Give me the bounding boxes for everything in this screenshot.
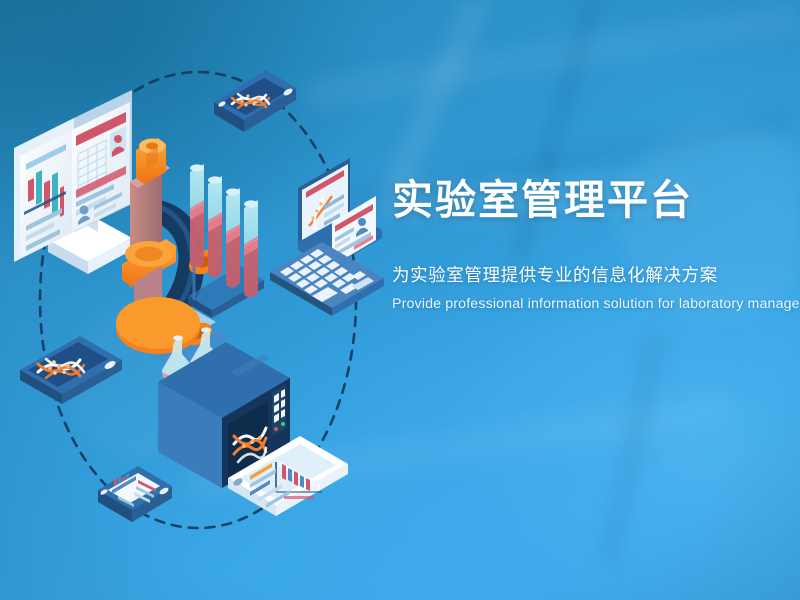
banner-copy: 实验室管理平台 为实验室管理提供专业的信息化解决方案 Provide profe… <box>392 176 800 312</box>
test-tube <box>226 188 240 288</box>
page-title: 实验室管理平台 <box>392 176 800 224</box>
desktop-monitor-device <box>14 90 132 274</box>
test-tube <box>190 164 204 268</box>
smartphone-dna-device <box>214 70 296 132</box>
test-tube-rack <box>188 164 264 318</box>
test-tube <box>208 176 222 278</box>
laptop-device <box>270 158 384 316</box>
subtitle-chinese: 为实验室管理提供专业的信息化解决方案 <box>392 262 800 287</box>
smartphone-report-device <box>98 466 172 522</box>
laboratory-illustration <box>0 0 400 600</box>
laboratory-platform-banner: 实验室管理平台 为实验室管理提供专业的信息化解决方案 Provide profe… <box>0 0 800 600</box>
test-tube <box>244 200 258 298</box>
subtitle-english: Provide professional information solutio… <box>392 296 800 312</box>
analyzer-keypad <box>272 384 286 436</box>
tablet-dna-device <box>20 336 122 404</box>
